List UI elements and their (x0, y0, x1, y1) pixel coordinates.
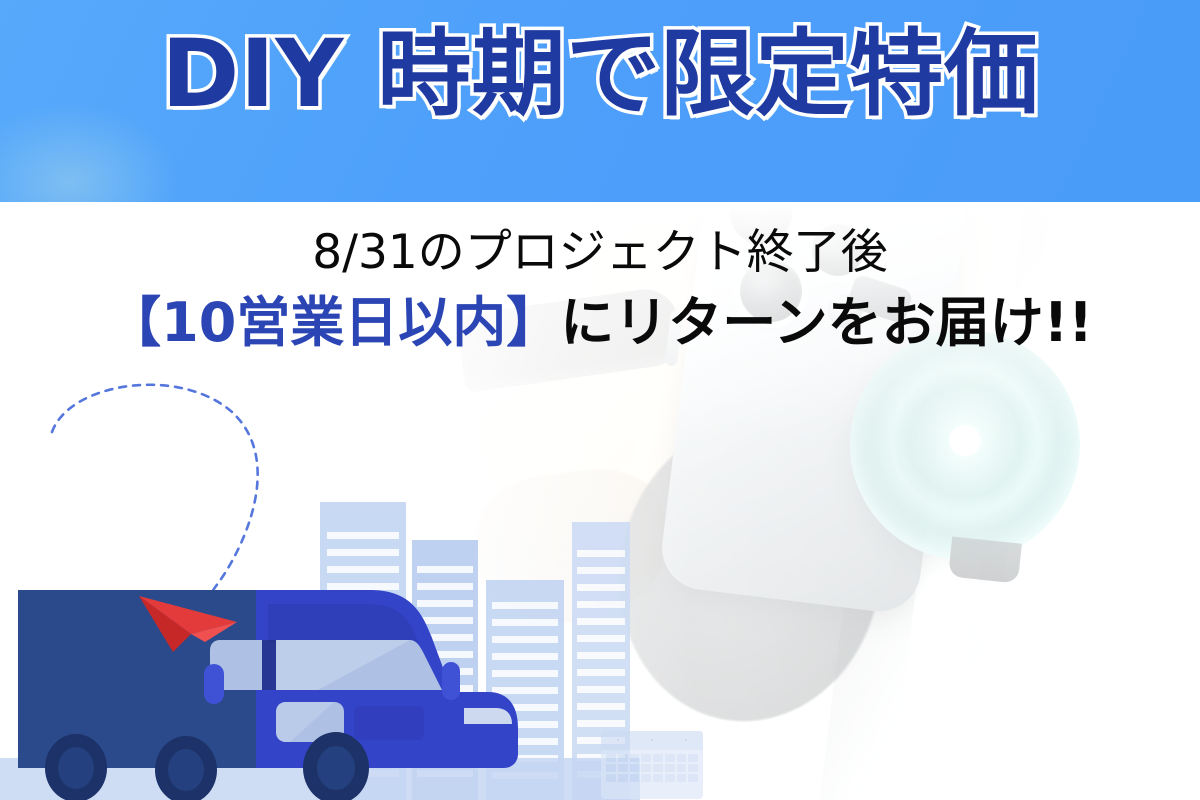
calendar-dot: ▫ (685, 737, 687, 744)
calendar-dot: ▫ (651, 737, 653, 744)
page-title: DIY 時期で限定特価 (0, 24, 1200, 126)
message-line-2: 【10営業日以内】にリターンをお届け!! (0, 289, 1200, 357)
message-rest: にリターンをお届け!! (560, 291, 1093, 354)
paper-plane-icon (133, 590, 243, 658)
delivery-truck-icon (18, 542, 538, 800)
message-block: 8/31のプロジェクト終了後 【10営業日以内】にリターンをお届け!! (0, 224, 1200, 356)
promo-poster: DIY 時期で限定特価 (0, 0, 1200, 800)
message-line-1: 8/31のプロジェクト終了後 (0, 224, 1200, 283)
header-banner: DIY 時期で限定特価 (0, 0, 1200, 202)
body-area: ▫ ▫ ▫ (0, 202, 1200, 800)
suction-cup-foot (948, 536, 1022, 583)
message-highlight: 【10営業日以内】 (107, 291, 560, 354)
suction-cup-mount (850, 330, 1080, 560)
